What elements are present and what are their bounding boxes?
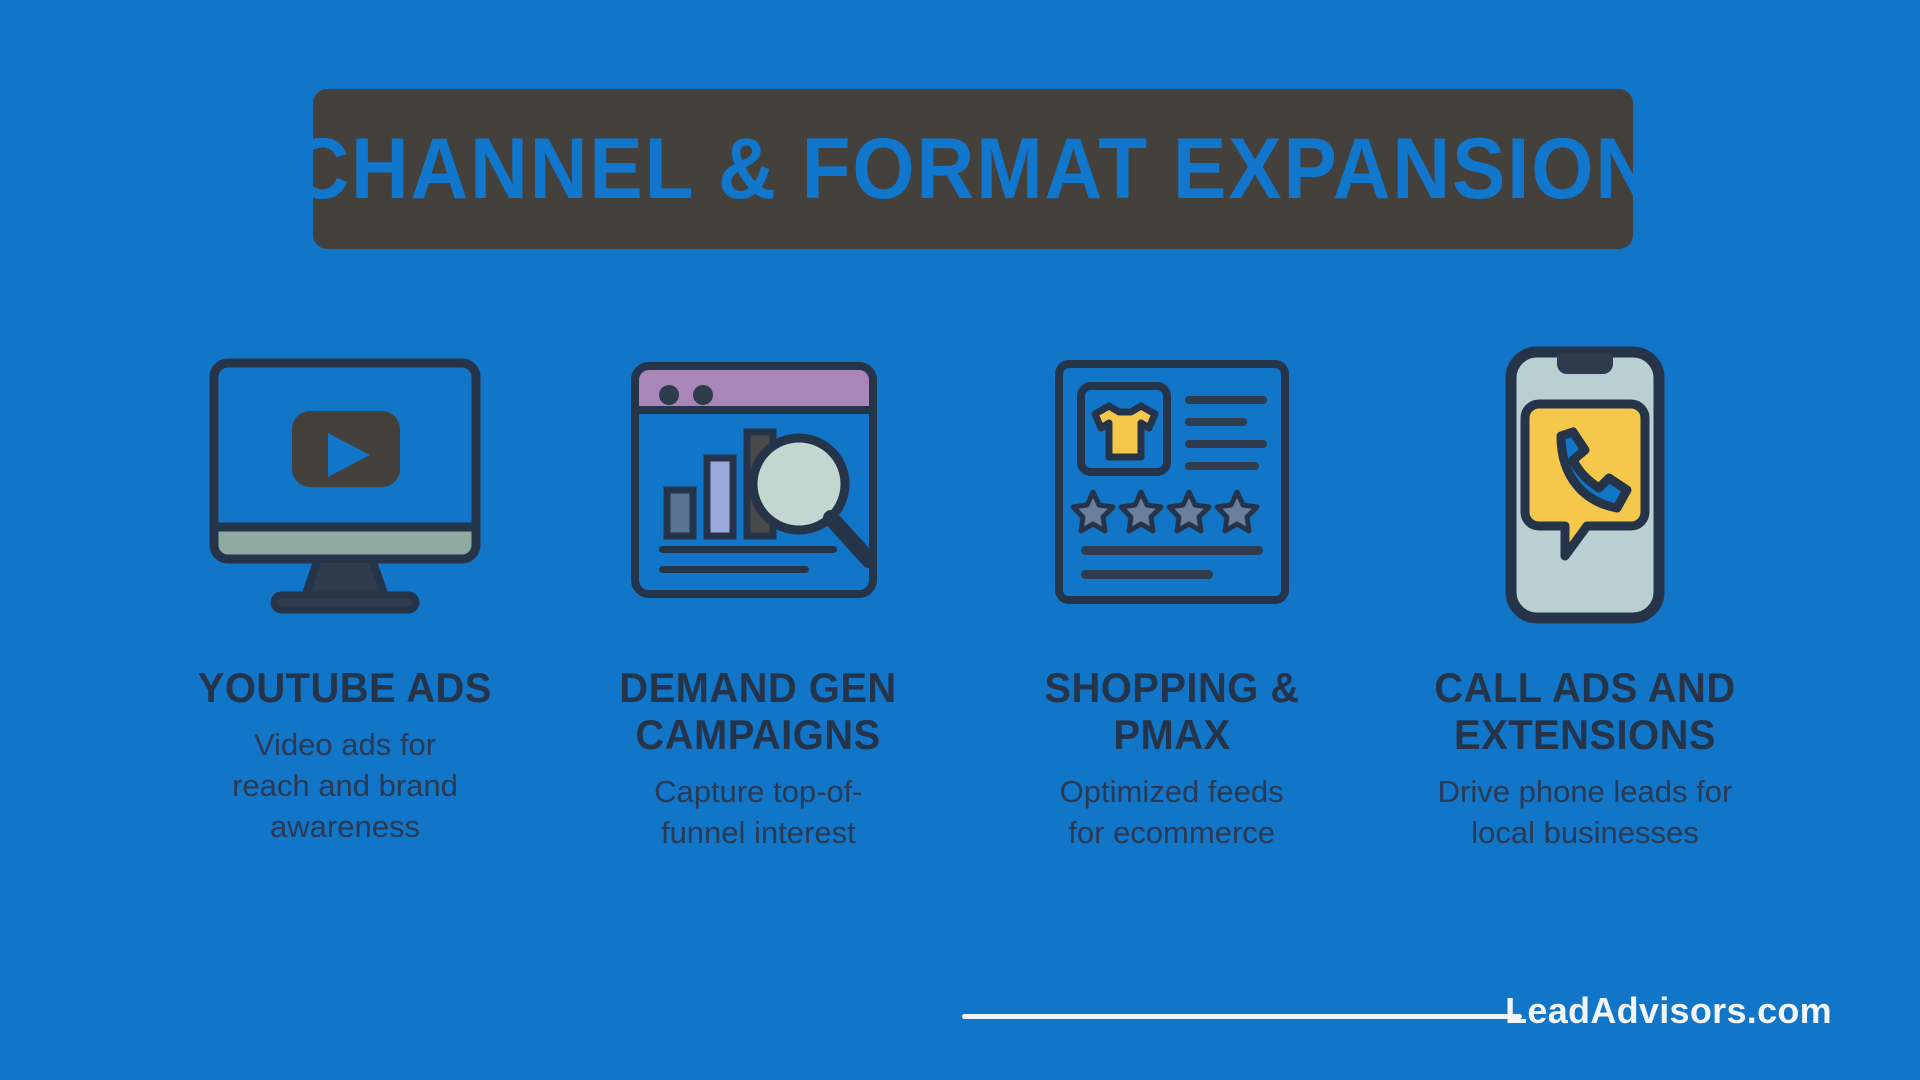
card-youtube-ads: YOUTUBE ADS Video ads for reach and bran… [150,320,540,848]
browser-analytics-icon [563,320,953,650]
card-title: YOUTUBE ADS [198,664,492,711]
card-description: Video ads for reach and brand awareness [215,725,475,848]
card-title: DEMAND GEN CAMPAIGNS [573,664,944,758]
youtube-monitor-icon [150,320,540,650]
card-call-ads-extensions: CALL ADS AND EXTENSIONS Drive phone lead… [1390,320,1780,854]
footer: LeadAdvisors.com [0,986,1920,1046]
card-demand-gen-campaigns: DEMAND GEN CAMPAIGNS Capture top-of-funn… [563,320,953,854]
card-description: Drive phone leads for local businesses [1435,772,1735,854]
title-banner: CHANNEL & FORMAT EXPANSION [313,89,1633,249]
card-row: YOUTUBE ADS Video ads for reach and bran… [150,320,1780,960]
footer-divider [962,1014,1522,1019]
card-shopping-pmax: SHOPPING & PMAX Optimized feeds for ecom… [977,320,1367,854]
infographic-canvas: CHANNEL & FORMAT EXPANSION [0,0,1920,1080]
card-title: SHOPPING & PMAX [986,664,1357,758]
phone-call-icon [1390,320,1780,650]
page-title: CHANNEL & FORMAT EXPANSION [291,126,1655,212]
product-listing-icon [977,320,1367,650]
card-title: CALL ADS AND EXTENSIONS [1400,664,1771,758]
brand-logo[interactable]: LeadAdvisors.com [1505,990,1832,1032]
card-description: Optimized feeds for ecommerce [1047,772,1297,854]
card-description: Capture top-of-funnel interest [628,772,888,854]
